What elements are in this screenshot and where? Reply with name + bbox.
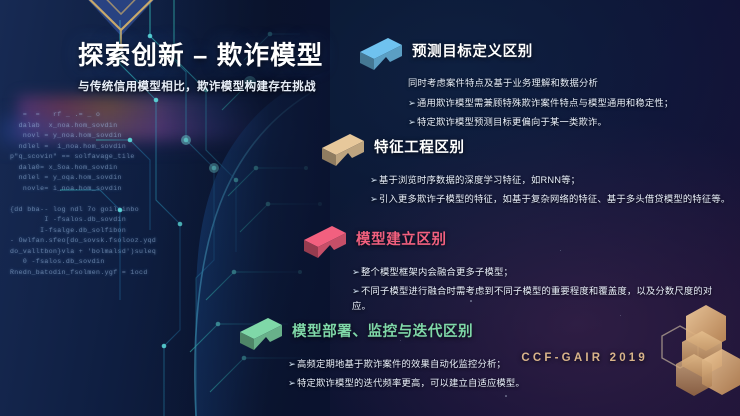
page-subtitle: 与传统信用模型相比，欺诈模型构建存在挑战 xyxy=(78,78,368,94)
bullet-text: 高频定期地基于欺诈案件的效果自动化监控分析； xyxy=(297,359,506,369)
section-bullet: ➢引入更多欺诈子模型的特征，如基于复杂网络的特征、基于多头借贷模型的特征等。 xyxy=(370,192,732,207)
brand-label: CCF-GAIR 2019 xyxy=(521,352,648,364)
section-bullet: ➢基于浏览时序数据的深度学习特征，如RNN等； xyxy=(370,173,732,188)
bullet-text: 特定欺诈模型预测目标更偏向于某一类欺诈。 xyxy=(417,117,607,127)
section-feature-engineering[interactable]: 特征工程区别 ➢基于浏览时序数据的深度学习特征，如RNN等； ➢引入更多欺诈子模… xyxy=(320,140,732,211)
arrow-3d-icon xyxy=(320,128,368,168)
bullet-text: 特定欺诈模型的迭代频率更高，可以建立自适应模型。 xyxy=(297,378,525,388)
section-title: 特征工程区别 xyxy=(374,140,465,157)
bullet-marker: ➢ xyxy=(408,117,416,127)
arrow-3d-icon xyxy=(358,32,406,72)
bullet-marker: ➢ xyxy=(408,98,416,108)
section-prediction-target[interactable]: 预测目标定义区别 同时考虑案件特点及基于业务理解和数据分析 ➢通用欺诈模型需兼顾… xyxy=(358,44,673,134)
hexagon-cluster-decoration-icon xyxy=(636,302,740,410)
bullet-text: 引入更多欺诈子模型的特征，如基于复杂网络的特征、基于多头借贷模型的特征等。 xyxy=(379,194,730,204)
arrow-3d-icon xyxy=(238,312,286,352)
arrow-3d-icon xyxy=(302,220,350,260)
bullet-marker: ➢ xyxy=(370,194,378,204)
title-block: 探索创新 – 欺诈模型 与传统信用模型相比，欺诈模型构建存在挑战 xyxy=(78,42,368,94)
section-bullet: ➢通用欺诈模型需兼顾特殊欺诈案件特点与模型通用和稳定性； xyxy=(408,96,673,111)
section-lead: 同时考虑案件特点及基于业务理解和数据分析 xyxy=(408,77,673,91)
bullet-marker: ➢ xyxy=(370,175,378,185)
section-bullet: ➢整个模型框架内会融合更多子模型； xyxy=(352,265,726,280)
bullet-marker: ➢ xyxy=(288,378,296,388)
section-title: 模型建立区别 xyxy=(356,232,447,249)
bullet-marker: ➢ xyxy=(352,286,360,296)
slide-canvas: = = rf _ .= _ o dalab x_noa.hom_sovdin n… xyxy=(0,0,740,416)
sparkle-dot xyxy=(505,395,507,397)
sparkle-dot xyxy=(470,300,472,302)
section-bullet: ➢特定欺诈模型预测目标更偏向于某一类欺诈。 xyxy=(408,115,673,130)
bullet-text: 基于浏览时序数据的深度学习特征，如RNN等； xyxy=(379,175,580,185)
section-title: 预测目标定义区别 xyxy=(412,44,533,61)
bullet-text: 整个模型框架内会融合更多子模型； xyxy=(361,267,513,277)
bullet-marker: ➢ xyxy=(352,267,360,277)
bullet-text: 通用欺诈模型需兼顾特殊欺诈案件特点与模型通用和稳定性； xyxy=(417,98,673,108)
section-title: 模型部署、监控与迭代区别 xyxy=(292,324,473,341)
page-title: 探索创新 – 欺诈模型 xyxy=(78,42,368,71)
bullet-marker: ➢ xyxy=(288,359,296,369)
